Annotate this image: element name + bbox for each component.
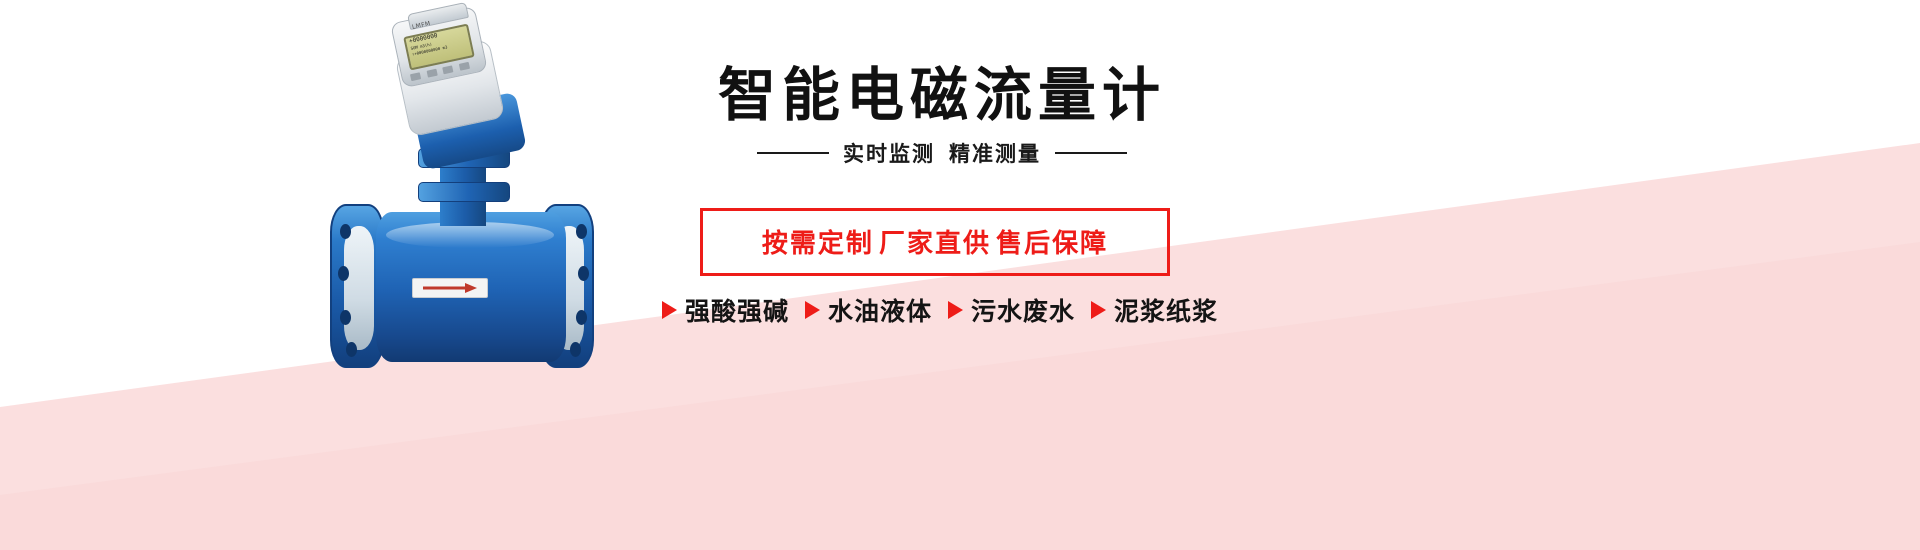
triangle-right-icon	[948, 301, 963, 319]
feature-label-4: 泥浆纸浆	[1114, 292, 1218, 328]
feature-label-1: 强酸强碱	[685, 292, 789, 328]
flange-bolt	[340, 224, 351, 239]
subtitle-text-right: 精准测量	[949, 138, 1041, 168]
subtitle-rule-left	[757, 152, 829, 154]
feature-label-3: 污水废水	[971, 292, 1075, 328]
flange-left-inner-liner	[344, 226, 374, 350]
banner-title: 智能电磁流量计	[672, 48, 1212, 132]
flange-bolt	[576, 310, 587, 325]
flange-bolt	[340, 310, 351, 325]
promo-item-factory-direct: 厂家直供	[879, 229, 991, 259]
promo-box: 按需定制 厂家直供 售后保障	[700, 208, 1170, 276]
feature-item-1: 强酸强碱	[662, 292, 789, 328]
flange-bolt	[576, 224, 587, 239]
feature-item-3: 污水废水	[948, 292, 1075, 328]
feature-label-2: 水油液体	[828, 292, 932, 328]
banner-text-block: 智能电磁流量计 实时监测 精准测量 按需定制 厂家直供 售后保障 强酸强碱 水油…	[600, 0, 1280, 550]
feature-list: 强酸强碱 水油液体 污水废水 泥浆纸浆	[600, 292, 1280, 328]
neck-flange-lower	[418, 182, 510, 202]
banner-subtitle: 实时监测 精准测量	[672, 138, 1212, 168]
flow-direction-arrow-icon	[412, 278, 488, 298]
triangle-right-icon	[805, 301, 820, 319]
promo-item-after-sales: 售后保障	[996, 229, 1108, 259]
product-banner: LMFM +0000000 SUM m3(h) ↑+0000000000 m3 …	[0, 0, 1920, 550]
flange-bolt	[570, 342, 581, 357]
promo-item-custom: 按需定制	[762, 229, 874, 259]
flange-bolt	[338, 266, 349, 281]
flange-bolt	[346, 342, 357, 357]
feature-item-2: 水油液体	[805, 292, 932, 328]
subtitle-rule-right	[1055, 152, 1127, 154]
triangle-right-icon	[662, 301, 677, 319]
subtitle-text-left: 实时监测	[843, 138, 935, 168]
feature-item-4: 泥浆纸浆	[1091, 292, 1218, 328]
triangle-right-icon	[1091, 301, 1106, 319]
flange-bolt	[578, 266, 589, 281]
